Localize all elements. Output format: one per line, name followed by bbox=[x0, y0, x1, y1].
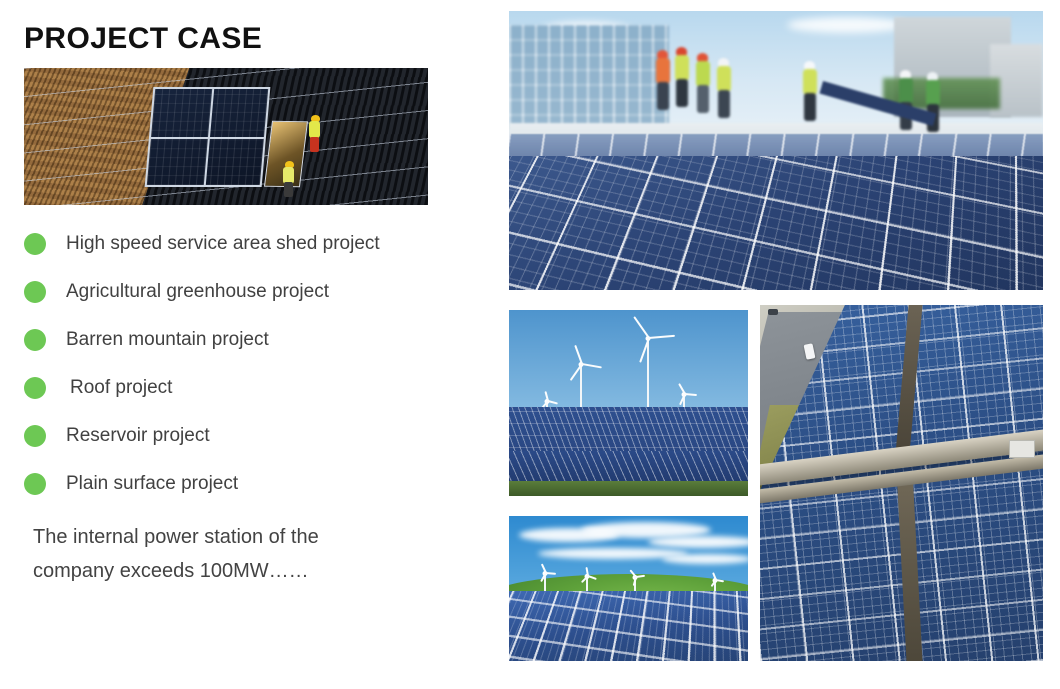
list-item: High speed service area shed project bbox=[24, 220, 484, 268]
bullet-dot-icon bbox=[24, 281, 46, 303]
list-item-label: Roof project bbox=[70, 377, 172, 399]
vehicle bbox=[768, 309, 778, 315]
list-item: Roof project bbox=[24, 364, 484, 412]
photo-gallery-column bbox=[500, 0, 1060, 689]
bullet-dot-icon bbox=[24, 329, 46, 351]
list-item-label: High speed service area shed project bbox=[66, 233, 380, 255]
page-title: PROJECT CASE bbox=[24, 22, 262, 55]
bullet-dot-icon bbox=[24, 233, 46, 255]
wind-turbine-icon bbox=[633, 336, 663, 410]
list-item: Reservoir project bbox=[24, 412, 484, 460]
bullet-dot-icon bbox=[24, 377, 46, 399]
wind-farm-photo bbox=[509, 310, 748, 496]
list-item: Agricultural greenhouse project bbox=[24, 268, 484, 316]
wind-turbine-icon bbox=[581, 574, 593, 591]
left-content-column: PROJECT CASE High speed service area she… bbox=[0, 0, 500, 689]
capacity-note-line-1: The internal power station of the bbox=[33, 520, 463, 554]
green-hills-solar-photo bbox=[509, 516, 748, 661]
capacity-note-line-2: company exceeds 100MW…… bbox=[33, 554, 463, 588]
project-case-slide: PROJECT CASE High speed service area she… bbox=[0, 0, 1060, 689]
capacity-note: The internal power station of the compan… bbox=[33, 520, 463, 588]
list-item: Barren mountain project bbox=[24, 316, 484, 364]
list-item-label: Agricultural greenhouse project bbox=[66, 281, 329, 303]
list-item-label: Barren mountain project bbox=[66, 329, 269, 351]
roof-installation-photo bbox=[24, 68, 428, 205]
wind-turbine-icon bbox=[538, 571, 552, 591]
list-item-label: Reservoir project bbox=[66, 425, 210, 447]
main-rooftop-photo bbox=[509, 11, 1043, 290]
aerial-rooftop-photo bbox=[760, 305, 1043, 661]
project-bullet-list: High speed service area shed project Agr… bbox=[24, 220, 484, 508]
list-item-label: Plain surface project bbox=[66, 473, 238, 495]
bullet-dot-icon bbox=[24, 425, 46, 447]
list-item: Plain surface project bbox=[24, 460, 484, 508]
bullet-dot-icon bbox=[24, 473, 46, 495]
